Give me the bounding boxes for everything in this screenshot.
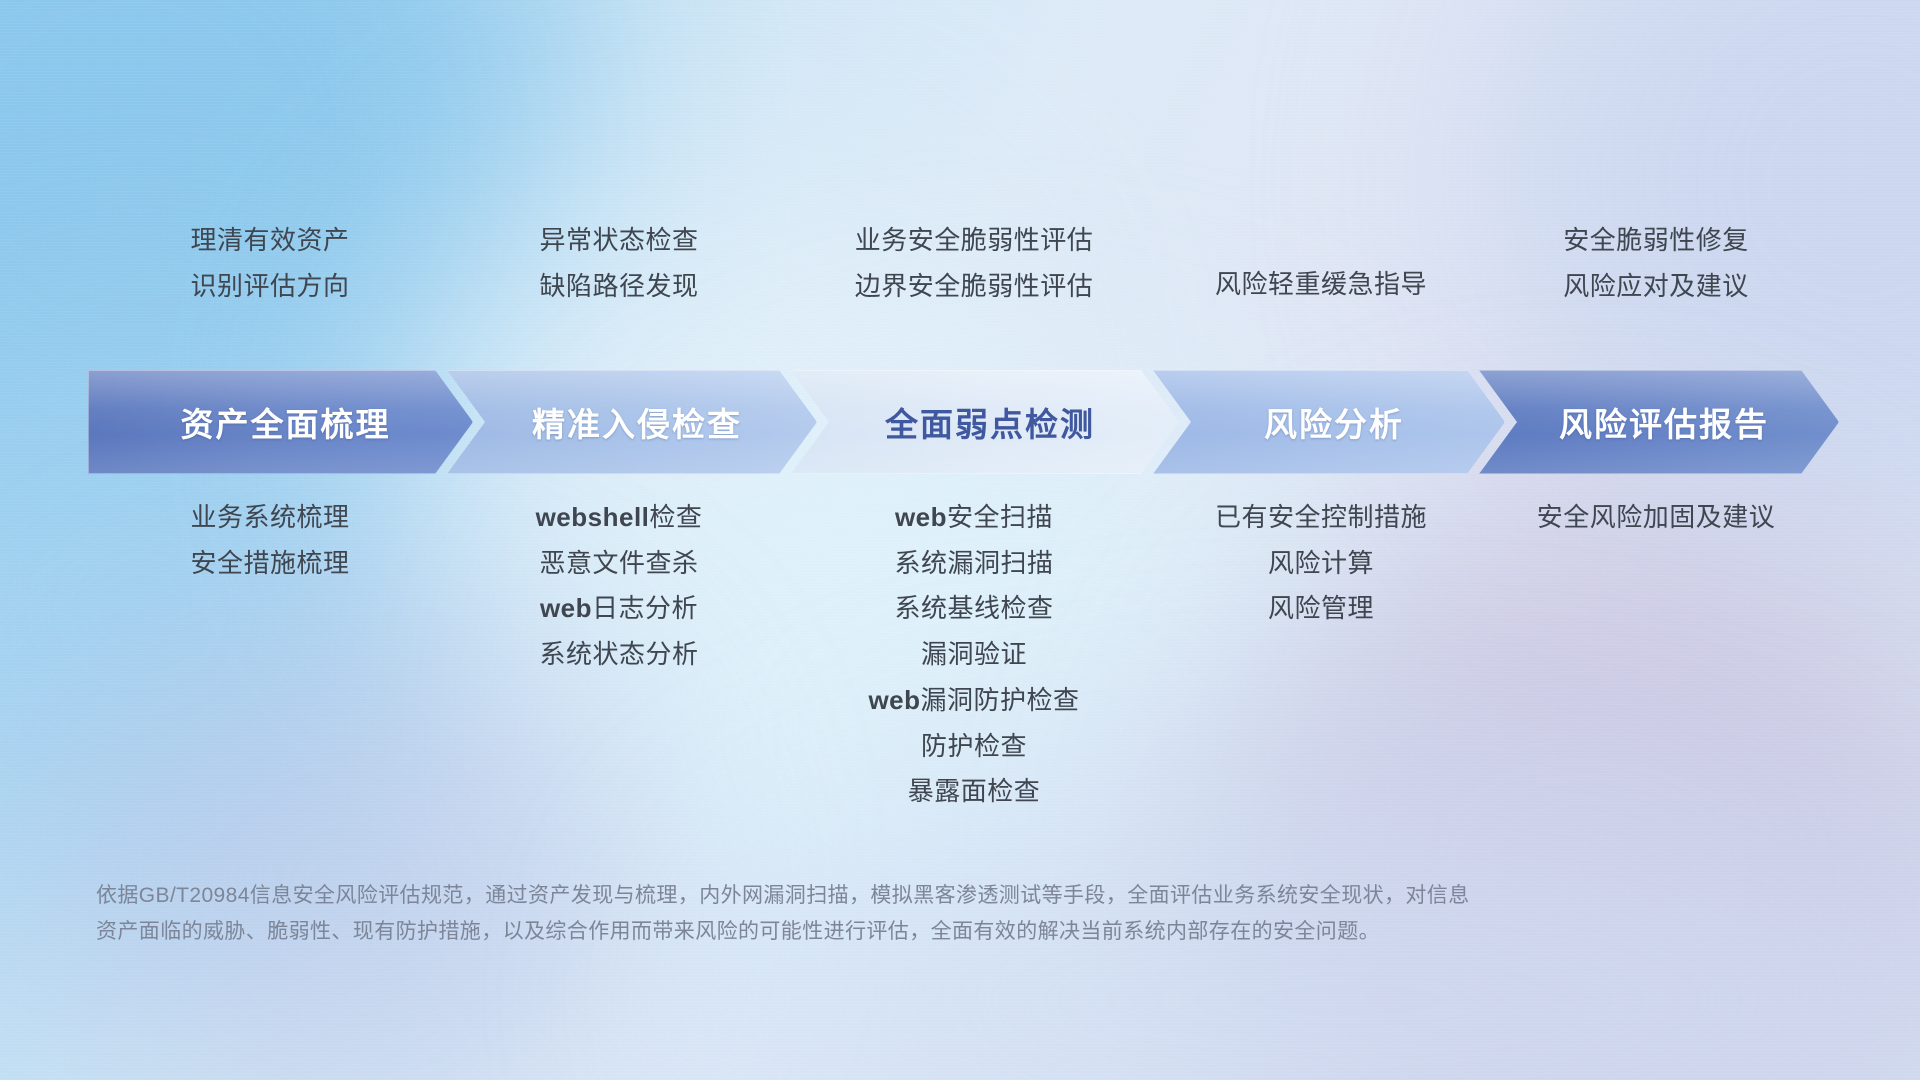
activity-item: webshell检查 xyxy=(445,502,793,534)
outcome-item: 缺陷路径发现 xyxy=(445,271,793,303)
stage-outcomes-weakness-detection: 业务安全脆弱性评估 边界安全脆弱性评估 xyxy=(793,225,1155,311)
stage-activities-risk-report: 安全风险加固及建议 xyxy=(1487,502,1825,534)
stage-title: 风险评估报告 xyxy=(1549,398,1769,446)
stage-outcomes-asset-inventory: 理清有效资产 识别评估方向 xyxy=(95,225,445,311)
outcome-item: 异常状态检查 xyxy=(445,225,793,257)
activity-item: web日志分析 xyxy=(445,593,793,625)
activity-item: 风险管理 xyxy=(1155,593,1487,625)
outcome-item: 识别评估方向 xyxy=(95,271,445,303)
stage-chevron-intrusion-check[interactable]: 精准入侵检查 xyxy=(447,370,817,474)
activity-item: 业务系统梳理 xyxy=(95,502,445,534)
activity-item: 防护检查 xyxy=(793,731,1155,763)
stage-chevron-risk-analysis[interactable]: 风险分析 xyxy=(1153,370,1505,474)
stage-activities-row: 业务系统梳理 安全措施梳理 webshell检查 恶意文件查杀 web日志分析 … xyxy=(95,502,1825,808)
stage-outcomes-risk-report: 安全脆弱性修复 风险应对及建议 xyxy=(1487,225,1825,311)
activity-item: 暴露面检查 xyxy=(793,776,1155,808)
stage-activities-intrusion-check: webshell检查 恶意文件查杀 web日志分析 系统状态分析 xyxy=(445,502,793,671)
process-infographic: 理清有效资产 识别评估方向 异常状态检查 缺陷路径发现 业务安全脆弱性评估 边界… xyxy=(0,0,1920,1080)
description-paragraph: 依据GB/T20984信息安全风险评估规范，通过资产发现与梳理，内外网漏洞扫描，… xyxy=(96,878,1716,950)
outcome-item: 风险应对及建议 xyxy=(1487,271,1825,303)
stage-chevron-risk-report[interactable]: 风险评估报告 xyxy=(1479,370,1839,474)
stage-title: 风险分析 xyxy=(1254,398,1404,446)
activity-item: 系统状态分析 xyxy=(445,639,793,671)
activity-item: 系统基线检查 xyxy=(793,593,1155,625)
stage-activities-weakness-detection: web安全扫描 系统漏洞扫描 系统基线检查 漏洞验证 web漏洞防护检查 防护检… xyxy=(793,502,1155,808)
outcome-item: 边界安全脆弱性评估 xyxy=(793,271,1155,303)
description-line-1: 依据GB/T20984信息安全风险评估规范，通过资产发现与梳理，内外网漏洞扫描，… xyxy=(96,878,1716,914)
stage-title: 资产全面梳理 xyxy=(171,398,391,446)
outcome-item: 业务安全脆弱性评估 xyxy=(793,225,1155,257)
activity-item: 安全措施梳理 xyxy=(95,548,445,580)
outcome-item: 安全脆弱性修复 xyxy=(1487,225,1825,257)
stage-title: 精准入侵检查 xyxy=(522,398,742,446)
stage-outcomes-row: 理清有效资产 识别评估方向 异常状态检查 缺陷路径发现 业务安全脆弱性评估 边界… xyxy=(95,225,1825,311)
process-chevron-band: 资产全面梳理 精准入侵检查 全面弱点检测 风险分析 风险评估报告 xyxy=(88,370,1840,474)
stage-chevron-asset-inventory[interactable]: 资产全面梳理 xyxy=(88,370,473,474)
stage-chevron-weakness-detection[interactable]: 全面弱点检测 xyxy=(791,370,1179,474)
activity-item: 恶意文件查杀 xyxy=(445,548,793,580)
activity-item: 风险计算 xyxy=(1155,548,1487,580)
stage-outcomes-intrusion-check: 异常状态检查 缺陷路径发现 xyxy=(445,225,793,311)
activity-item: 漏洞验证 xyxy=(793,639,1155,671)
activity-item: 已有安全控制措施 xyxy=(1155,502,1487,534)
activity-item: web安全扫描 xyxy=(793,502,1155,534)
activity-item: 系统漏洞扫描 xyxy=(793,548,1155,580)
outcome-item: 理清有效资产 xyxy=(95,225,445,257)
stage-activities-asset-inventory: 业务系统梳理 安全措施梳理 xyxy=(95,502,445,579)
stage-title: 全面弱点检测 xyxy=(875,398,1095,446)
description-line-2: 资产面临的威胁、脆弱性、现有防护措施，以及综合作用而带来风险的可能性进行评估，全… xyxy=(96,914,1716,950)
outcome-item: 风险轻重缓急指导 xyxy=(1155,269,1487,301)
stage-outcomes-risk-analysis: 风险轻重缓急指导 xyxy=(1155,225,1487,311)
stage-activities-risk-analysis: 已有安全控制措施 风险计算 风险管理 xyxy=(1155,502,1487,625)
activity-item: 安全风险加固及建议 xyxy=(1487,502,1825,534)
activity-item: web漏洞防护检查 xyxy=(793,685,1155,717)
